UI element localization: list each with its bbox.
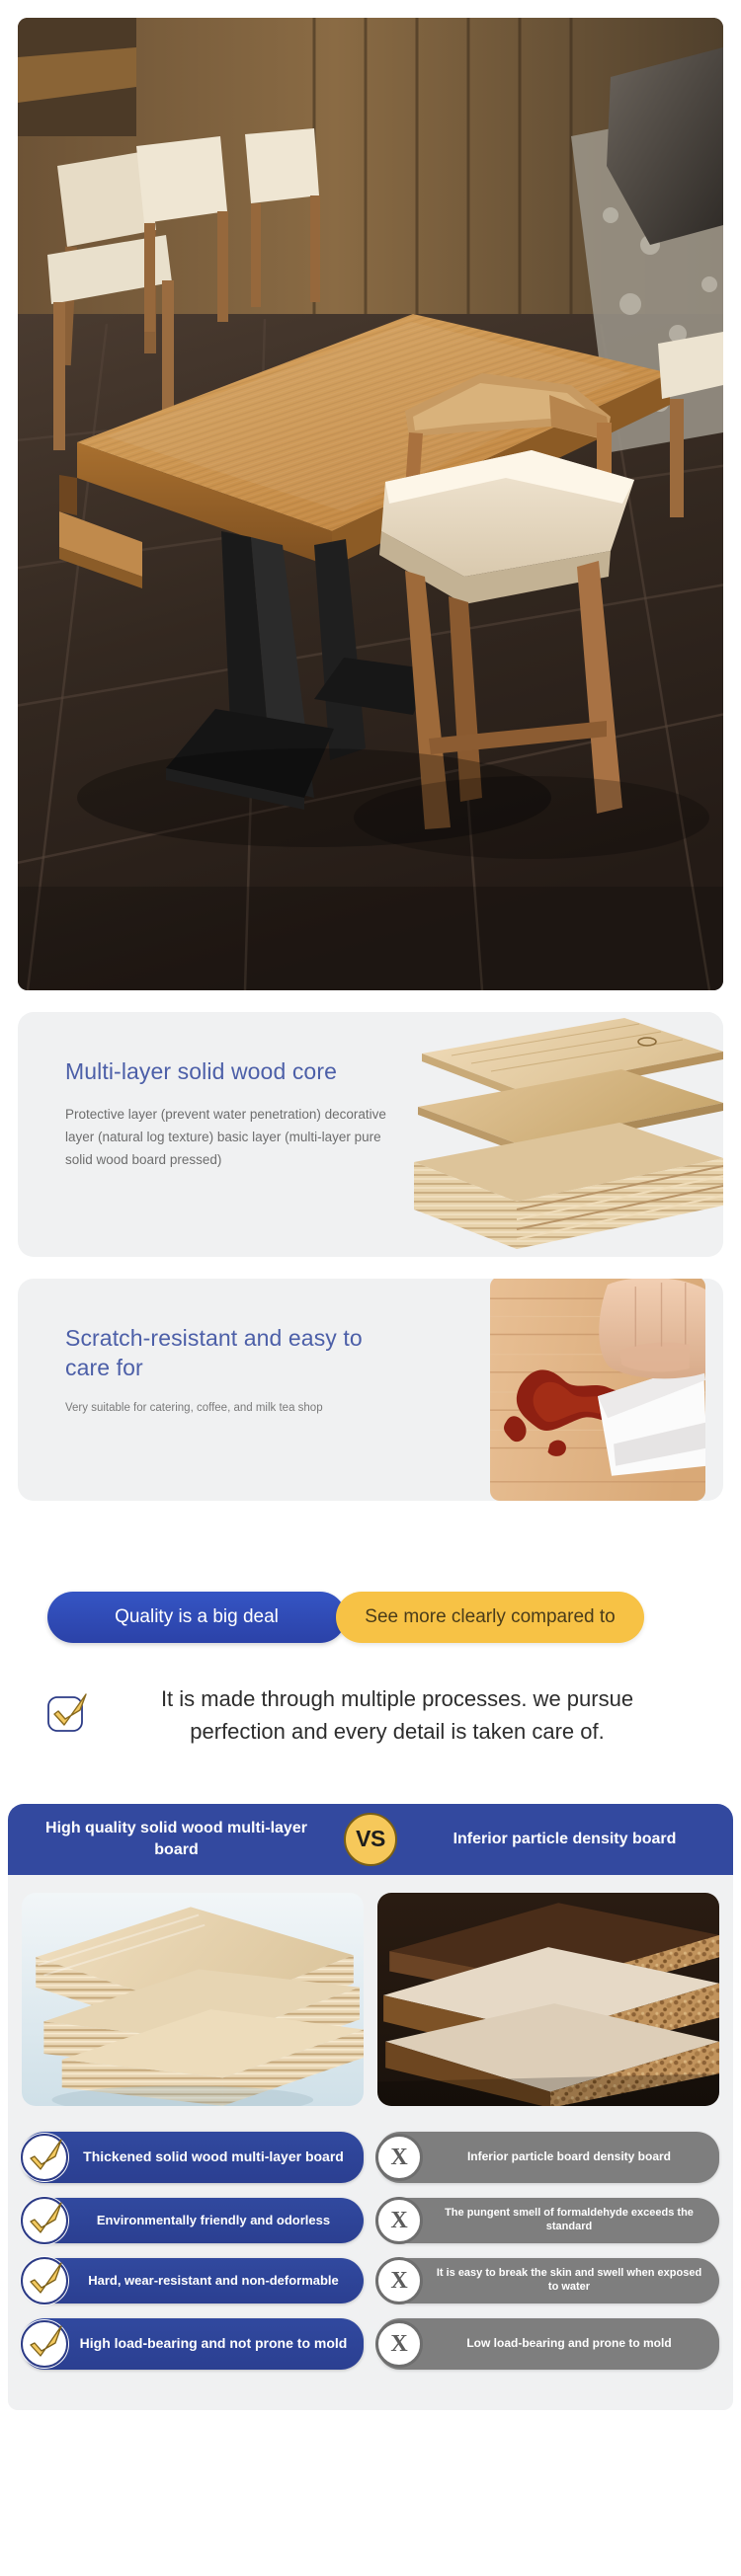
con-label: Low load-bearing and prone to mold xyxy=(435,2336,703,2351)
comparison-left-title: High quality solid wood multi-layer boar… xyxy=(8,1818,370,1860)
quality-pill-button[interactable]: Quality is a big deal xyxy=(47,1592,346,1643)
vs-badge: VS xyxy=(344,1813,397,1866)
product-detail-page: Multi-layer solid wood core Protective l… xyxy=(0,18,741,2410)
x-circle-icon: X xyxy=(375,2320,423,2368)
con-pill: X The pungent smell of formaldehyde exce… xyxy=(377,2198,719,2243)
con-pill: X It is easy to break the skin and swell… xyxy=(377,2258,719,2303)
check-circle-icon xyxy=(20,2319,69,2369)
comparison-rows: Thickened solid wood multi-layer board X… xyxy=(22,2132,719,2370)
pro-pill: Hard, wear-resistant and non-deformable xyxy=(22,2258,364,2303)
pro-pill: High load-bearing and not prone to mold xyxy=(22,2318,364,2370)
feature-card-scratch-resistant: Scratch-resistant and easy to care for V… xyxy=(18,1279,723,1501)
x-circle-icon: X xyxy=(375,2197,423,2244)
pro-label: Environmentally friendly and odorless xyxy=(79,2213,348,2228)
plywood-layers-photo xyxy=(392,1012,723,1257)
pro-pill: Environmentally friendly and odorless xyxy=(22,2198,364,2243)
comparison-row: High load-bearing and not prone to mold … xyxy=(22,2318,719,2370)
check-box-icon xyxy=(45,1682,91,1741)
con-label: Inferior particle board density board xyxy=(435,2149,703,2164)
feature-body: Protective layer (prevent water penetrat… xyxy=(65,1103,391,1172)
pro-label: Thickened solid wood multi-layer board xyxy=(79,2148,348,2166)
hero-product-photo xyxy=(18,18,723,990)
comparison-header: High quality solid wood multi-layer boar… xyxy=(8,1804,733,1875)
pro-label: Hard, wear-resistant and non-deformable xyxy=(79,2273,348,2289)
comparison-row: Thickened solid wood multi-layer board X… xyxy=(22,2132,719,2183)
con-label: The pungent smell of formaldehyde exceed… xyxy=(435,2207,703,2234)
comparison-section: High quality solid wood multi-layer boar… xyxy=(8,1804,733,2410)
check-circle-icon xyxy=(20,2196,69,2245)
feature-title: Multi-layer solid wood core xyxy=(65,1057,413,1087)
pro-pill: Thickened solid wood multi-layer board xyxy=(22,2132,364,2183)
wiping-spill-on-wood-photo xyxy=(490,1279,705,1501)
x-circle-icon: X xyxy=(375,2257,423,2304)
comparison-row: Hard, wear-resistant and non-deformable … xyxy=(22,2258,719,2303)
feature-title: Scratch-resistant and easy to care for xyxy=(65,1324,413,1383)
particle-density-board-photo xyxy=(377,1893,719,2106)
con-label: It is easy to break the skin and swell w… xyxy=(435,2267,703,2295)
solid-wood-multi-layer-board-photo xyxy=(22,1893,364,2106)
feature-card-multi-layer-core: Multi-layer solid wood core Protective l… xyxy=(18,1012,723,1257)
comparison-row: Environmentally friendly and odorless X … xyxy=(22,2198,719,2243)
x-circle-icon: X xyxy=(375,2134,423,2181)
con-pill: X Inferior particle board density board xyxy=(377,2132,719,2183)
cta-pill-row: Quality is a big deal See more clearly c… xyxy=(0,1592,741,1643)
pro-label: High load-bearing and not prone to mold xyxy=(79,2335,348,2353)
compare-pill-button[interactable]: See more clearly compared to xyxy=(336,1592,644,1643)
check-circle-icon xyxy=(20,2133,69,2182)
check-circle-icon xyxy=(20,2256,69,2305)
con-pill: X Low load-bearing and prone to mold xyxy=(377,2318,719,2370)
statement-text: It is made through multiple processes. w… xyxy=(117,1682,696,1749)
craftsmanship-statement: It is made through multiple processes. w… xyxy=(45,1682,696,1749)
comparison-right-title: Inferior particle density board xyxy=(370,1829,733,1850)
feature-body: Very suitable for catering, coffee, and … xyxy=(65,1399,391,1419)
